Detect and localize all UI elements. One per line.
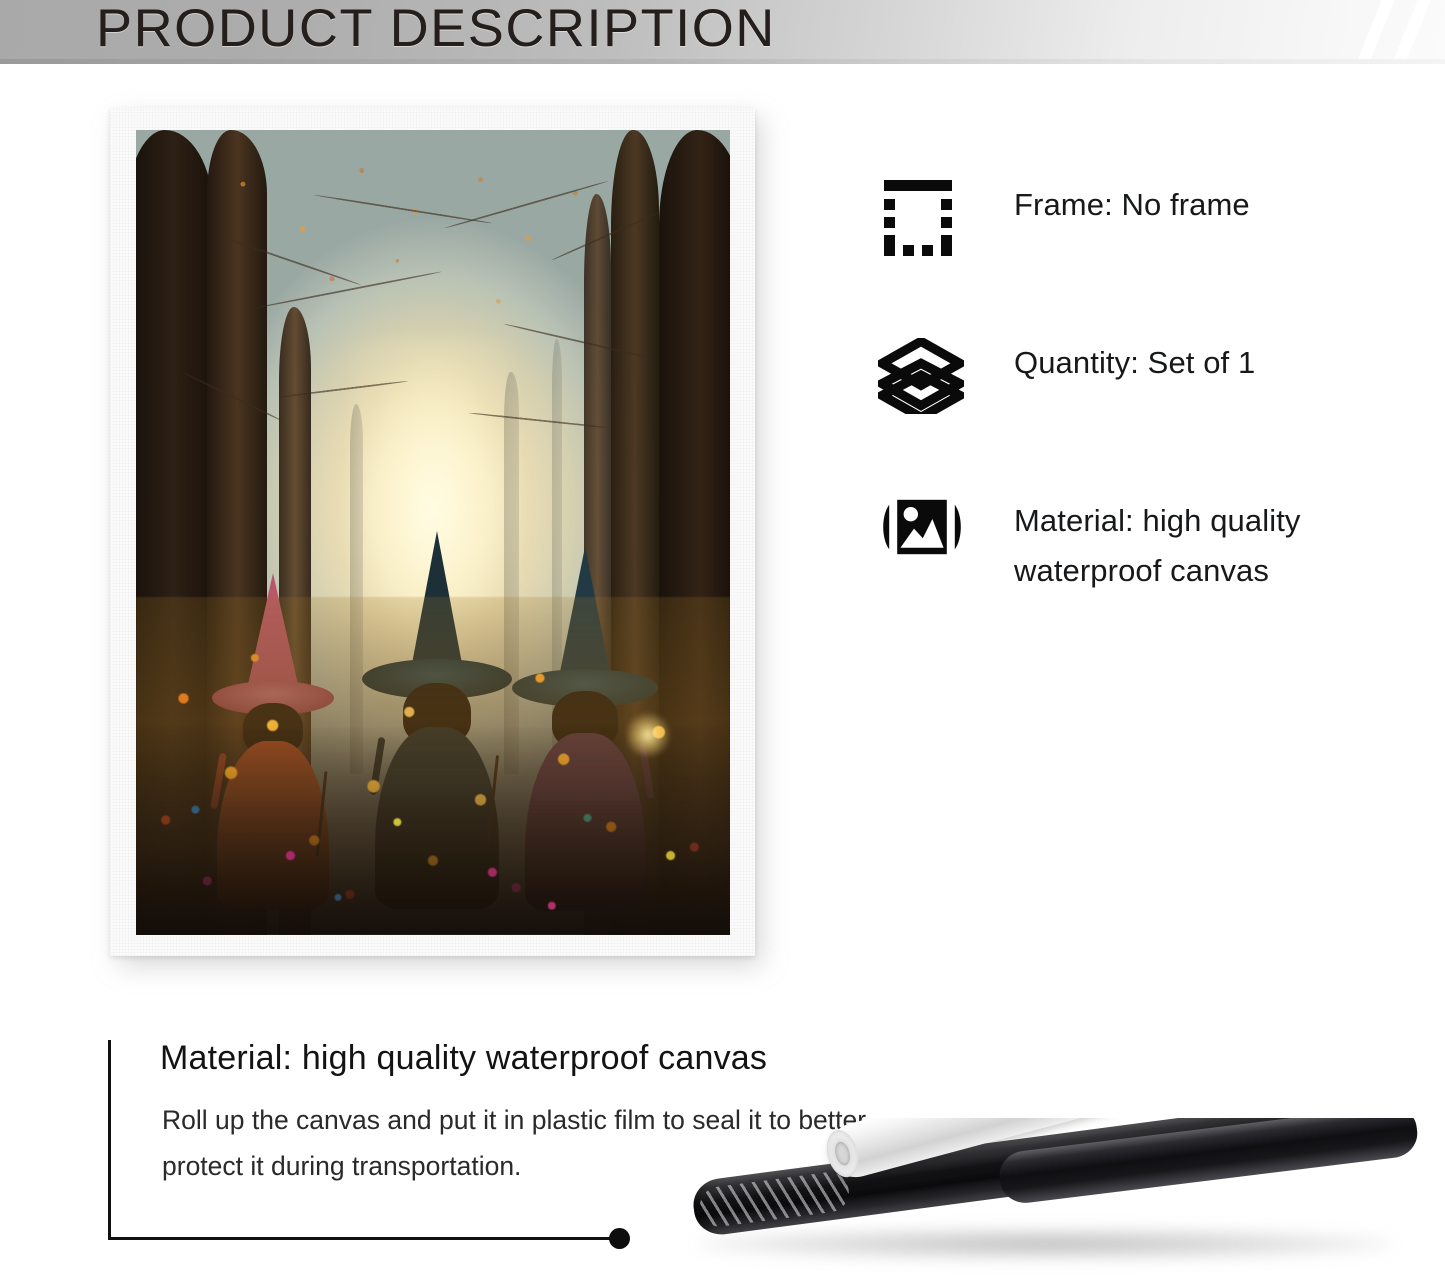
product-spec-list: Frame: No frame Quantity: Set of 1 Mater…: [878, 176, 1398, 674]
layers-icon: [878, 338, 964, 414]
painting-light-spark: [625, 712, 671, 758]
spec-label-frame: Frame: No frame: [974, 176, 1250, 230]
black-shipping-tube-far: [997, 1118, 1420, 1206]
bracket-end-dot: [609, 1228, 630, 1249]
bottom-section-title: Material: high quality waterproof canvas: [160, 1039, 767, 1078]
spec-row-material: Material: high quality waterproof canvas: [878, 492, 1398, 596]
spec-row-frame: Frame: No frame: [878, 176, 1398, 256]
image-icon: [878, 496, 966, 558]
page-title: PRODUCT DESCRIPTION: [96, 0, 776, 59]
canvas-white-border: [110, 108, 755, 956]
page-header-banner: PRODUCT DESCRIPTION: [0, 0, 1445, 64]
product-artwork: [110, 108, 760, 963]
spec-label-quantity: Quantity: Set of 1: [974, 334, 1255, 388]
frame-icon-wrapper: [878, 176, 974, 256]
header-slash-decoration-1: [1349, 0, 1401, 64]
frame-icon: [878, 180, 958, 256]
layers-icon-wrapper: [878, 334, 974, 414]
bracket-vertical-line: [108, 1040, 111, 1238]
packaging-photo: [670, 1118, 1445, 1278]
bracket-horizontal-line: [108, 1237, 612, 1240]
packaging-shadow: [700, 1228, 1390, 1260]
spec-label-material: Material: high quality waterproof canvas: [974, 492, 1398, 596]
header-slash-decoration-2: [1385, 0, 1437, 64]
spec-row-quantity: Quantity: Set of 1: [878, 334, 1398, 414]
image-icon-wrapper: [878, 492, 974, 558]
painting-image: [136, 130, 730, 935]
